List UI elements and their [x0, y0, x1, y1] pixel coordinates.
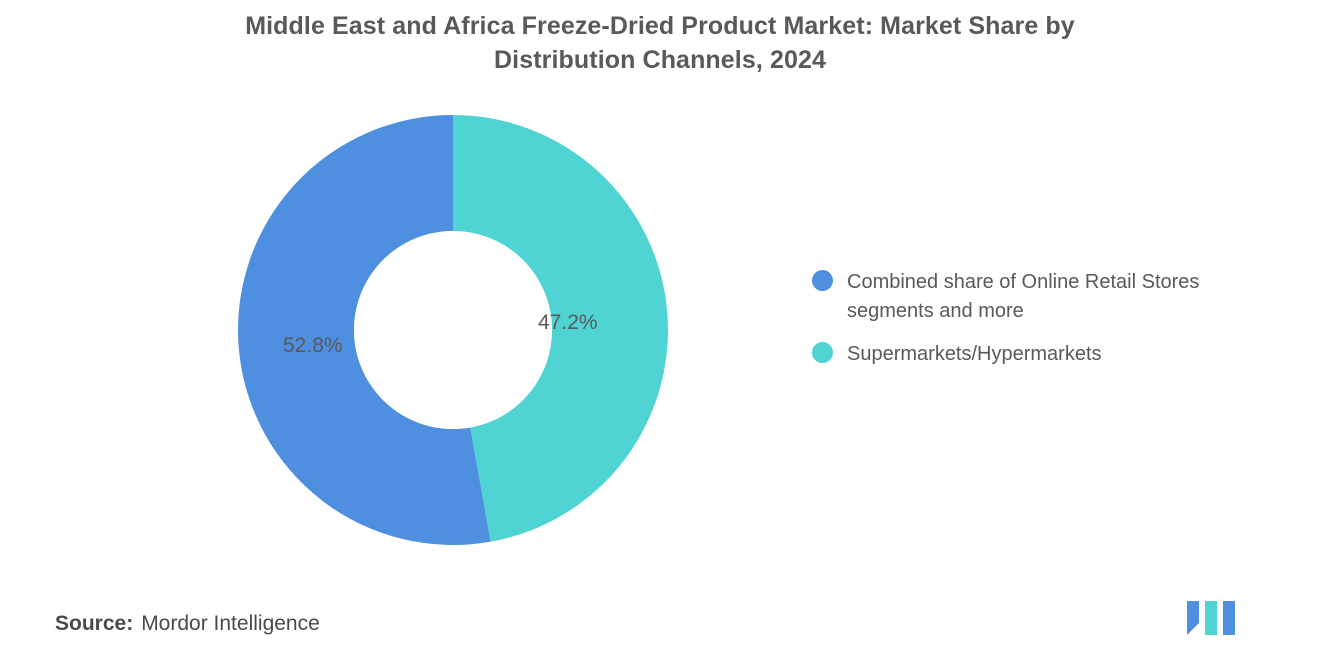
donut-hole: [354, 231, 552, 429]
legend-swatch-icon-teal: [812, 342, 833, 363]
logo-icon: [1185, 597, 1249, 637]
mordor-intelligence-logo: [1185, 597, 1249, 637]
slice-value-label-blue: 52.8%: [283, 334, 343, 358]
legend-swatch-icon-blue: [812, 270, 833, 291]
source-value: Mordor Intelligence: [141, 612, 320, 635]
chart-legend: Combined share of Online Retail Stores s…: [812, 268, 1302, 383]
slice-value-label-teal: 47.2%: [538, 311, 598, 335]
source-label: Source:: [55, 612, 133, 635]
chart-title-line-1: Middle East and Africa Freeze-Dried Prod…: [0, 10, 1320, 44]
legend-item-supermarkets-hypermarkets[interactable]: Supermarkets/Hypermarkets: [812, 340, 1302, 369]
chart-title: Middle East and Africa Freeze-Dried Prod…: [0, 10, 1320, 78]
legend-label-combined-online-retail: Combined share of Online Retail Stores s…: [847, 268, 1267, 326]
donut-chart: 52.8% 47.2%: [238, 115, 668, 545]
chart-title-line-2: Distribution Channels, 2024: [0, 44, 1320, 78]
source-note: Source:Mordor Intelligence: [55, 612, 320, 636]
chart-plot-area: 52.8% 47.2%: [0, 100, 800, 570]
donut-svg: [238, 115, 668, 545]
legend-label-supermarkets-hypermarkets: Supermarkets/Hypermarkets: [847, 340, 1102, 369]
legend-item-combined-online-retail[interactable]: Combined share of Online Retail Stores s…: [812, 268, 1302, 326]
